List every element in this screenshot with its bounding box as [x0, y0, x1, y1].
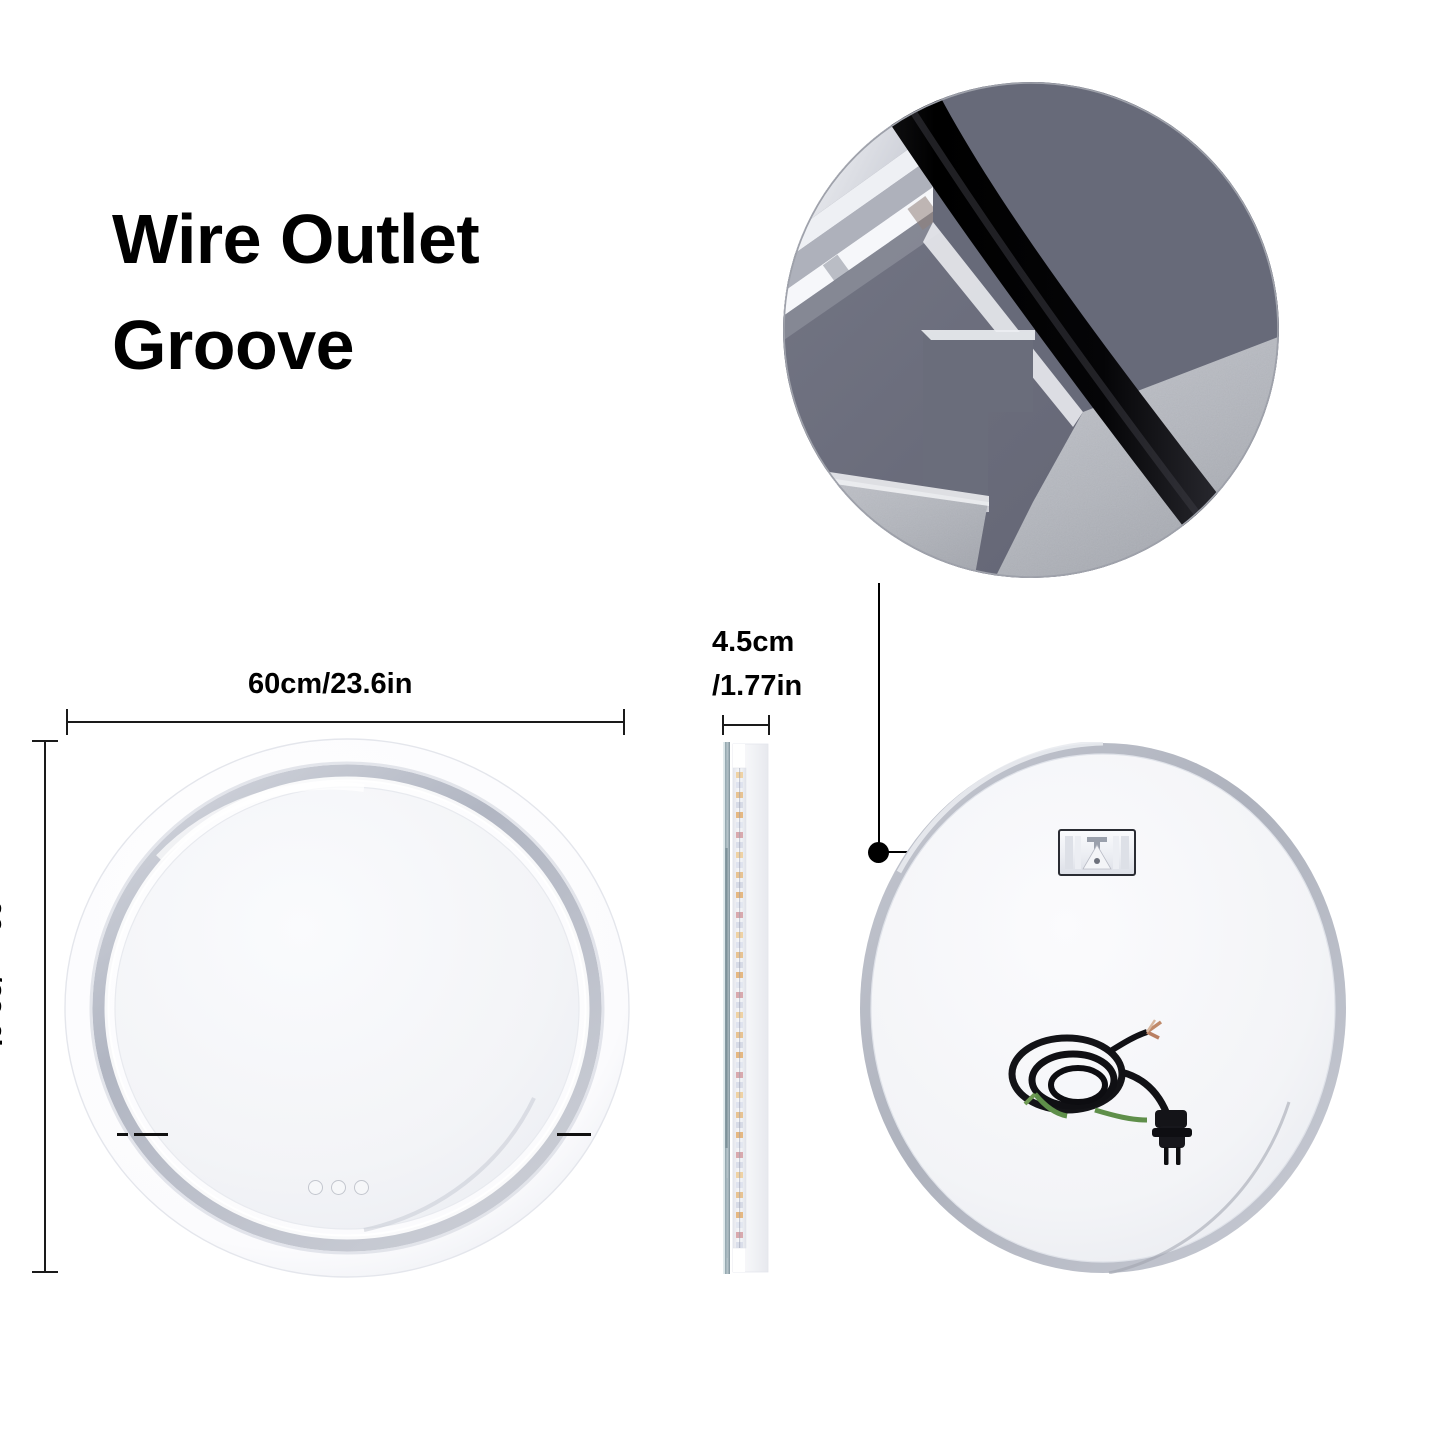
height-reference-tick-left-inner: [117, 1133, 128, 1136]
thickness-dimension-line: [722, 724, 770, 726]
touch-button-3[interactable]: [354, 1180, 369, 1195]
back-view-round-led-mirror: [859, 742, 1347, 1274]
height-dimension-cap-bottom: [32, 1271, 58, 1273]
width-dimension-cap-right: [623, 709, 625, 735]
width-dimension-cap-left: [66, 709, 68, 735]
thickness-dimension-cap-left: [722, 715, 724, 735]
height-reference-tick-left-outer: [134, 1133, 168, 1136]
width-dimension-label: 60cm/23.6in: [248, 668, 412, 701]
thickness-dimension-cap-right: [768, 715, 770, 735]
thickness-value-in: /1.77in: [712, 664, 802, 708]
front-view-round-led-mirror: [64, 738, 630, 1278]
height-dimension-line: [44, 740, 46, 1273]
page-title: Wire Outlet Groove: [112, 186, 672, 399]
thickness-dimension-label: 4.5cm /1.77in: [712, 620, 802, 708]
width-dimension-line: [66, 721, 625, 723]
height-reference-tick-right: [557, 1133, 591, 1136]
touch-button-2[interactable]: [331, 1180, 346, 1195]
touch-control-buttons[interactable]: [308, 1180, 369, 1195]
thickness-value-cm: 4.5cm: [712, 620, 802, 664]
touch-button-1[interactable]: [308, 1180, 323, 1195]
wire-outlet-groove-closeup: [783, 82, 1279, 578]
side-profile-view: [714, 738, 780, 1278]
title-line-1: Wire Outlet: [112, 186, 672, 292]
height-dimension-label: 60cm/23.6in: [0, 900, 6, 1064]
product-dimension-diagram: Wire Outlet Groove: [0, 0, 1445, 1445]
height-dimension-cap-top: [32, 740, 58, 742]
title-line-2: Groove: [112, 292, 672, 398]
